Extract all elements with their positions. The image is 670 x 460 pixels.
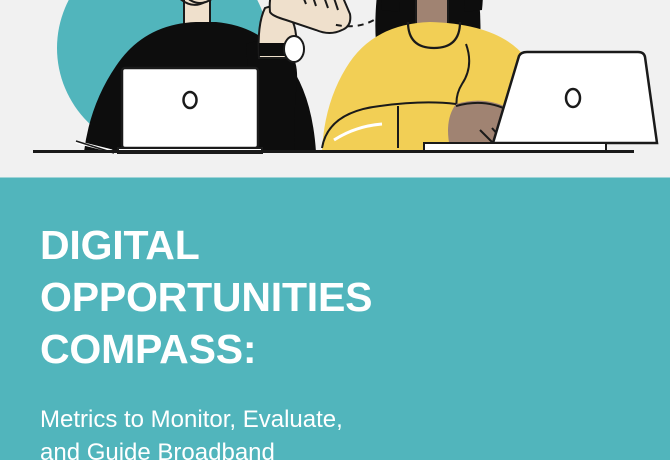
- illustration-svg: [0, 0, 670, 177]
- title-band: DIGITAL OPPORTUNITIES COMPASS: Metrics t…: [0, 177, 670, 460]
- laptop-right-logo: [566, 89, 580, 107]
- title-block: DIGITAL OPPORTUNITIES COMPASS: Metrics t…: [40, 219, 460, 460]
- page-subtitle: Metrics to Monitor, Evaluate, and Guide …: [40, 375, 460, 460]
- laptop-left-logo: [184, 92, 197, 108]
- wristwatch-face: [284, 36, 304, 62]
- cover-illustration: [0, 0, 670, 177]
- page-title: DIGITAL OPPORTUNITIES COMPASS:: [40, 219, 460, 375]
- band-top-hairline: [0, 177, 670, 178]
- desk-line: [33, 150, 634, 153]
- report-cover-page: DIGITAL OPPORTUNITIES COMPASS: Metrics t…: [0, 0, 670, 460]
